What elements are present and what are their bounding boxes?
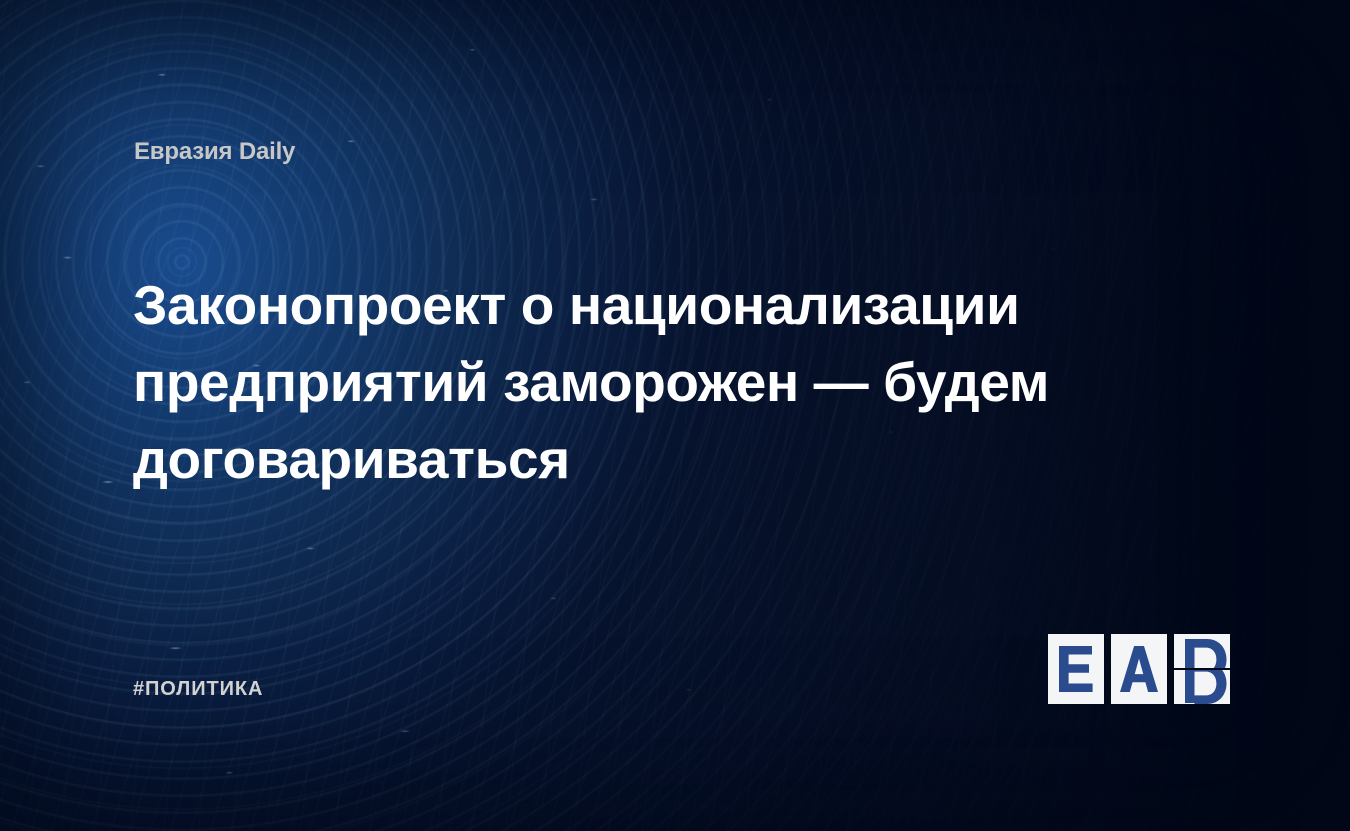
brand-name: Евразия Daily: [134, 138, 295, 166]
letter-a-icon: [1120, 646, 1158, 692]
card-content: Евразия Daily Законопроект о национализа…: [0, 0, 1350, 831]
category-tag: #ПОЛИТИКА: [133, 678, 263, 701]
logo-tile-a: [1111, 634, 1167, 704]
page-title: Законопроект о национализации предприяти…: [133, 267, 1093, 498]
logo-tile-d-top: [1174, 634, 1230, 668]
logo-tile-e: [1048, 634, 1104, 704]
letter-d-upper-icon: [1174, 634, 1230, 668]
letter-e-icon: [1059, 646, 1093, 692]
logo-tile-d-bottom: [1174, 670, 1230, 704]
logo-tile-d: [1174, 634, 1230, 704]
ead-logo: [1048, 634, 1230, 704]
article-share-card: Евразия Daily Законопроект о национализа…: [0, 0, 1350, 831]
letter-d-lower-icon: [1174, 670, 1230, 704]
